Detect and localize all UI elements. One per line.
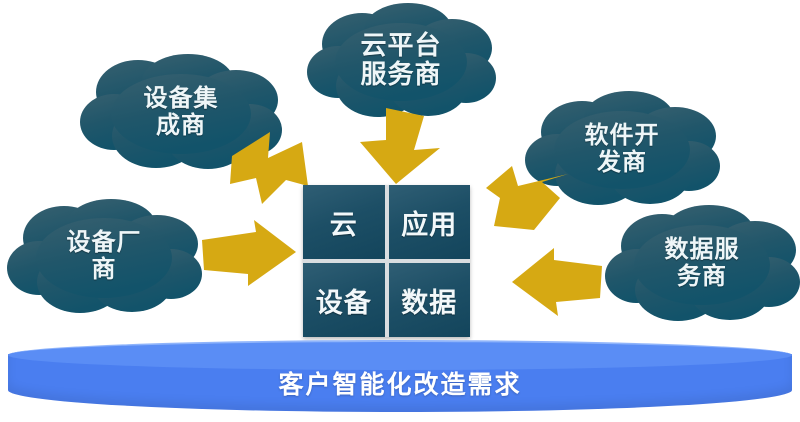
- base-cylinder: 客户智能化改造需求: [8, 340, 792, 416]
- cloud-data-service-provider[interactable]: 数据服 务商: [604, 202, 800, 324]
- arrow-right-icon: [196, 218, 300, 290]
- cloud-shape-icon: [6, 196, 202, 316]
- core-capability-grid: 云 应用 设备 数据: [303, 185, 470, 337]
- core-cell-cloud[interactable]: 云: [303, 185, 385, 259]
- arrow-down-icon: [352, 104, 452, 188]
- arrow-manufacturer-to-core: [196, 218, 300, 290]
- cloud-equipment-manufacturer[interactable]: 设备厂 商: [6, 196, 202, 316]
- diagram-canvas: 设备集 成商: [0, 0, 800, 422]
- cloud-shape-icon: [306, 2, 496, 120]
- arrow-integrator-to-core: [222, 128, 314, 208]
- cloud-platform-provider[interactable]: 云平台 服务商: [306, 2, 496, 120]
- arrow-data-to-core: [508, 248, 608, 320]
- arrow-software-to-core: [484, 152, 576, 236]
- arrow-left-icon: [508, 248, 608, 320]
- arrow-down-left-icon: [484, 152, 576, 236]
- core-cell-app[interactable]: 应用: [389, 185, 471, 259]
- core-cell-data[interactable]: 数据: [389, 263, 471, 337]
- arrow-platform-to-core: [352, 104, 452, 188]
- cloud-shape-icon: [604, 202, 800, 324]
- core-cell-device[interactable]: 设备: [303, 263, 385, 337]
- arrow-down-right-icon: [222, 128, 314, 208]
- base-cylinder-label: 客户智能化改造需求: [8, 354, 792, 412]
